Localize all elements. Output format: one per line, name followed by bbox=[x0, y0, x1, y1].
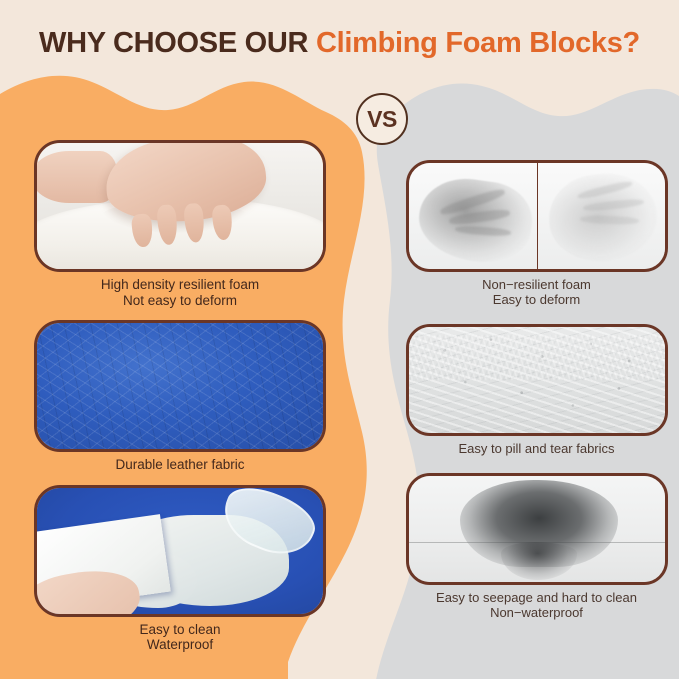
pros-column: High density resilient foam Not easy to … bbox=[26, 140, 334, 653]
pros-card-3-caption: Easy to clean Waterproof bbox=[26, 622, 334, 653]
cons-item-3: Easy to seepage and hard to clean Non−wa… bbox=[404, 473, 669, 620]
cons-item-1: Non−resilient foam Easy to deform bbox=[404, 160, 669, 307]
pros-card-2-image bbox=[34, 320, 326, 452]
pilled-fabric-illustration bbox=[409, 327, 665, 433]
cons-card-2-caption: Easy to pill and tear fabrics bbox=[404, 441, 669, 456]
cons-card-3-caption: Easy to seepage and hard to clean Non−wa… bbox=[404, 590, 669, 620]
page-title-part-two: Climbing Foam Blocks? bbox=[316, 27, 640, 59]
page-title: WHY CHOOSE OUR Climbing Foam Blocks? bbox=[39, 29, 640, 58]
header: WHY CHOOSE OUR Climbing Foam Blocks? bbox=[0, 0, 679, 86]
cons-card-1-image bbox=[406, 160, 668, 272]
pros-card-1-caption: High density resilient foam Not easy to … bbox=[26, 277, 334, 308]
pros-item-3: Easy to clean Waterproof bbox=[26, 485, 334, 653]
hand-pressing-foam-illustration bbox=[37, 143, 323, 269]
blue-leather-texture-illustration bbox=[37, 323, 323, 449]
pros-card-1-image bbox=[34, 140, 326, 272]
cons-card-1-caption: Non−resilient foam Easy to deform bbox=[404, 277, 669, 307]
pros-item-1: High density resilient foam Not easy to … bbox=[26, 140, 334, 308]
comparison-poster: WHY CHOOSE OUR Climbing Foam Blocks? VS bbox=[0, 0, 679, 679]
vs-badge: VS bbox=[356, 93, 408, 145]
cons-card-2-image bbox=[406, 324, 668, 436]
wiping-spill-illustration bbox=[37, 488, 323, 614]
vs-badge-label: VS bbox=[367, 106, 397, 133]
pros-item-2: Durable leather fabric bbox=[26, 320, 334, 473]
cons-item-2: Easy to pill and tear fabrics bbox=[404, 324, 669, 456]
pros-card-3-image bbox=[34, 485, 326, 617]
cons-card-3-image bbox=[406, 473, 668, 585]
card-split-divider bbox=[537, 163, 539, 269]
cons-column: Non−resilient foam Easy to deform Easy t… bbox=[404, 160, 669, 620]
seepage-stain-illustration bbox=[409, 476, 665, 582]
pros-card-2-caption: Durable leather fabric bbox=[26, 457, 334, 473]
grayscale-hands-illustration bbox=[409, 163, 665, 269]
page-title-part-one: WHY CHOOSE OUR bbox=[39, 27, 316, 59]
